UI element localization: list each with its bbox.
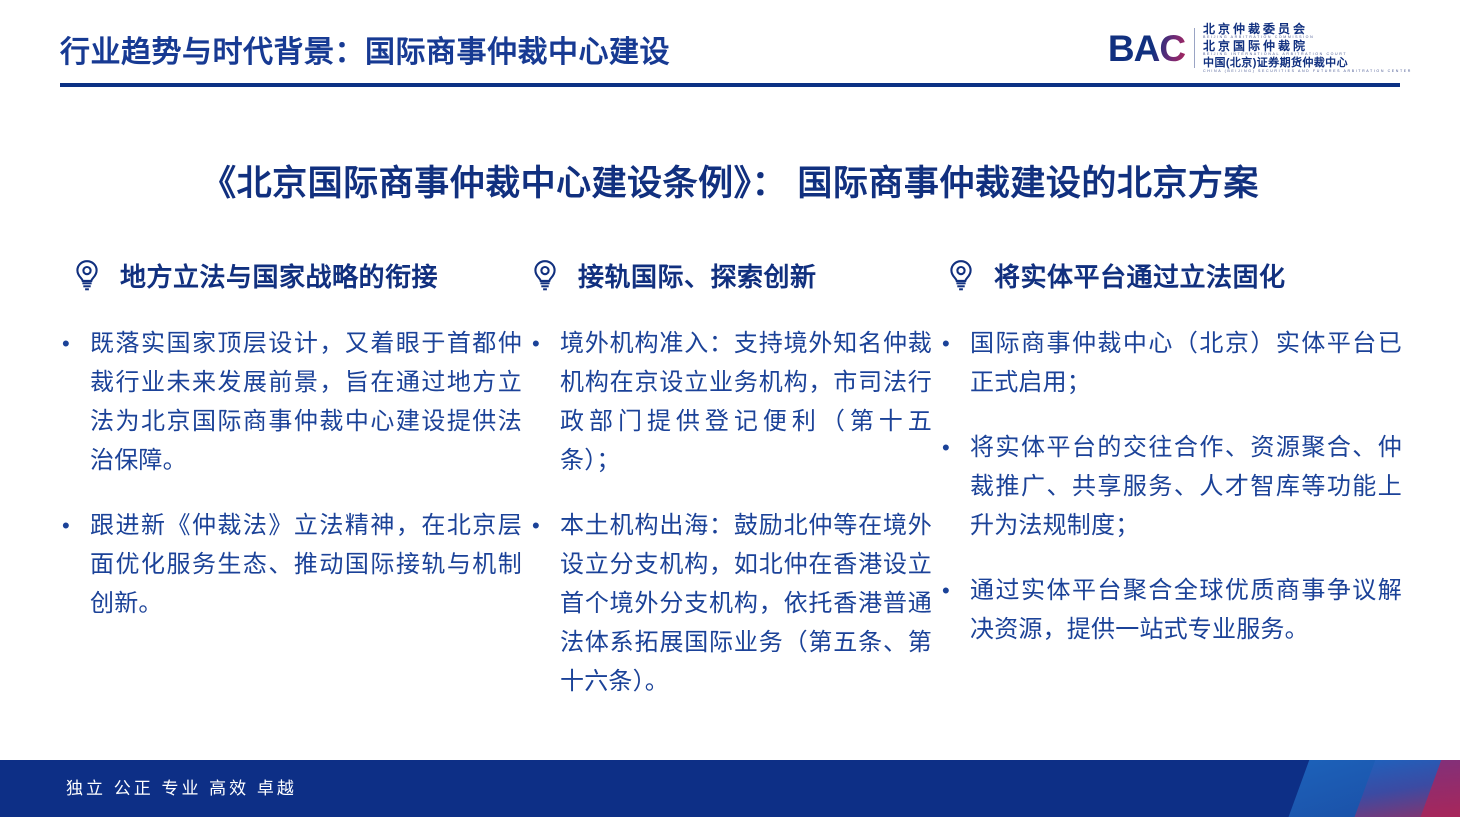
bullet-text: 本土机构出海：鼓励北仲等在境外设立分支机构，如北仲在香港设立首个境外分支机构，依…: [560, 506, 932, 701]
list-item: • 将实体平台的交往合作、资源聚合、仲裁推广、共享服务、人才智库等功能上升为法规…: [932, 428, 1402, 545]
column-2-header: 接轨国际、探索创新: [522, 252, 932, 298]
column-3-heading: 将实体平台通过立法固化: [986, 257, 1286, 294]
slide-footer: 独立 公正 专业 高效 卓越: [0, 760, 1460, 817]
content-column-3: 将实体平台通过立法固化 • 国际商事仲裁中心（北京）实体平台已正式启用； • 将…: [932, 252, 1402, 675]
bullet-marker: •: [932, 324, 970, 363]
logo-divider: [1194, 28, 1195, 68]
bullet-marker: •: [522, 506, 560, 545]
logo-line-2: 北京国际仲裁院 BEIJING INTERNATIONAL ARBITRATIO…: [1203, 40, 1412, 57]
list-item: • 跟进新《仲裁法》立法精神，在北京层面优化服务生态、推动国际接轨与机制创新。: [52, 506, 522, 623]
logo-line-1: 北京仲裁委员会 BEIJING ARBITRATION COMMISSION: [1203, 23, 1412, 40]
column-2-bullets: • 境外机构准入：支持境外知名仲裁机构在京设立业务机构，市司法行政部门提供登记便…: [522, 324, 932, 701]
content-column-2: 接轨国际、探索创新 • 境外机构准入：支持境外知名仲裁机构在京设立业务机构，市司…: [522, 252, 932, 727]
bullet-text: 通过实体平台聚合全球优质商事争议解决资源，提供一站式专业服务。: [970, 571, 1402, 649]
column-3-bullets: • 国际商事仲裁中心（北京）实体平台已正式启用； • 将实体平台的交往合作、资源…: [932, 324, 1402, 649]
logo-line-1-en: BEIJING ARBITRATION COMMISSION: [1203, 36, 1412, 40]
bullet-marker: •: [52, 324, 90, 363]
bullet-text: 将实体平台的交往合作、资源聚合、仲裁推广、共享服务、人才智库等功能上升为法规制度…: [970, 428, 1402, 545]
slide: 行业趋势与时代背景：国际商事仲裁中心建设 BAC 北京仲裁委员会 BEIJING…: [0, 0, 1460, 817]
logo-line-2-cn: 北京国际仲裁院: [1203, 40, 1412, 52]
bullet-marker: •: [932, 428, 970, 467]
list-item: • 既落实国家顶层设计，又着眼于首都仲裁行业未来发展前景，旨在通过地方立法为北京…: [52, 324, 522, 480]
logo-line-1-cn: 北京仲裁委员会: [1203, 23, 1412, 35]
bullet-marker: •: [52, 506, 90, 545]
logo-line-3-en: CHINA (BEIJING) SECURITIES AND FUTURES A…: [1203, 70, 1412, 74]
bullet-text: 国际商事仲裁中心（北京）实体平台已正式启用；: [970, 324, 1402, 402]
logo-line-3-cn: 中国(北京)证券期货仲裁中心: [1203, 58, 1412, 69]
main-title: 《北京国际商事仲裁中心建设条例》： 国际商事仲裁建设的北京方案: [0, 155, 1460, 206]
column-1-bullets: • 既落实国家顶层设计，又着眼于首都仲裁行业未来发展前景，旨在通过地方立法为北京…: [52, 324, 522, 623]
slide-header: 行业趋势与时代背景：国际商事仲裁中心建设 BAC 北京仲裁委员会 BEIJING…: [0, 0, 1460, 96]
bullet-text: 既落实国家顶层设计，又着眼于首都仲裁行业未来发展前景，旨在通过地方立法为北京国际…: [90, 324, 522, 480]
bullet-text: 跟进新《仲裁法》立法精神，在北京层面优化服务生态、推动国际接轨与机制创新。: [90, 506, 522, 623]
column-2-heading: 接轨国际、探索创新: [570, 257, 817, 294]
list-item: • 国际商事仲裁中心（北京）实体平台已正式启用；: [932, 324, 1402, 402]
page-title: 行业趋势与时代背景：国际商事仲裁中心建设: [60, 27, 670, 71]
footer-slogan: 独立 公正 专业 高效 卓越: [66, 760, 297, 817]
header-divider: [60, 83, 1400, 87]
list-item: • 境外机构准入：支持境外知名仲裁机构在京设立业务机构，市司法行政部门提供登记便…: [522, 324, 932, 480]
logo-line-2-en: BEIJING INTERNATIONAL ARBITRATION COURT: [1203, 53, 1412, 57]
bullet-text: 境外机构准入：支持境外知名仲裁机构在京设立业务机构，市司法行政部门提供登记便利（…: [560, 324, 932, 480]
content-columns: 地方立法与国家战略的衔接 • 既落实国家顶层设计，又着眼于首都仲裁行业未来发展前…: [52, 252, 1412, 727]
column-1-heading: 地方立法与国家战略的衔接: [112, 257, 438, 294]
lightbulb-icon: [946, 258, 976, 292]
bac-logo: BAC 北京仲裁委员会 BEIJING ARBITRATION COMMISSI…: [1108, 24, 1412, 72]
lightbulb-icon: [530, 258, 560, 292]
bullet-marker: •: [522, 324, 560, 363]
content-column-1: 地方立法与国家战略的衔接 • 既落实国家顶层设计，又着眼于首都仲裁行业未来发展前…: [52, 252, 522, 649]
lightbulb-icon: [72, 258, 102, 292]
column-3-header: 将实体平台通过立法固化: [932, 252, 1402, 298]
bullet-marker: •: [932, 571, 970, 610]
logo-line-3: 中国(北京)证券期货仲裁中心 CHINA (BEIJING) SECURITIE…: [1203, 58, 1412, 74]
list-item: • 本土机构出海：鼓励北仲等在境外设立分支机构，如北仲在香港设立首个境外分支机构…: [522, 506, 932, 701]
column-1-header: 地方立法与国家战略的衔接: [52, 252, 522, 298]
logo-wordmark: BAC: [1108, 30, 1194, 67]
list-item: • 通过实体平台聚合全球优质商事争议解决资源，提供一站式专业服务。: [932, 571, 1402, 649]
logo-text-block: 北京仲裁委员会 BEIJING ARBITRATION COMMISSION 北…: [1203, 23, 1412, 74]
